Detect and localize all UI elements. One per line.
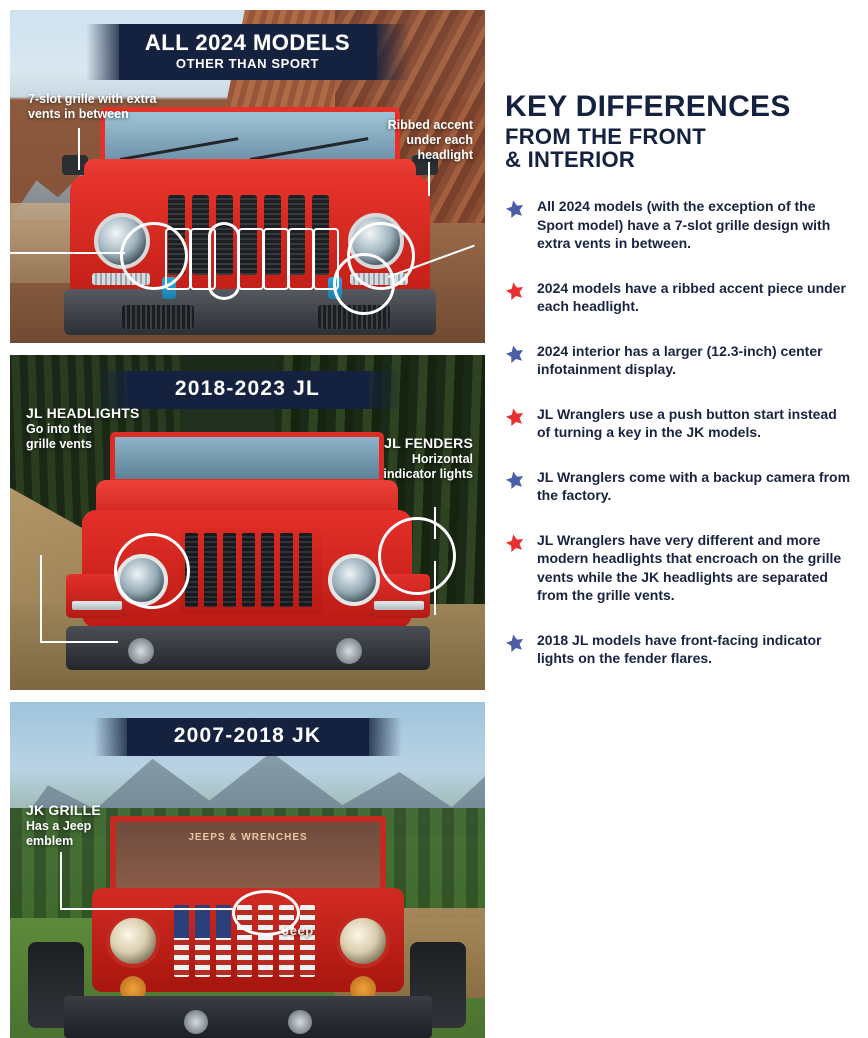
front-bumper bbox=[66, 626, 430, 670]
list-item-text: 2018 JL models have front-facing indicat… bbox=[537, 631, 852, 668]
leader-line-jk-horizontal bbox=[60, 908, 234, 910]
callout-circle-jl-fender bbox=[378, 517, 456, 595]
grille-slot bbox=[174, 905, 189, 977]
banner-subtitle: OTHER THAN SPORT bbox=[133, 56, 363, 71]
grille-slot bbox=[216, 905, 231, 977]
grille-slot bbox=[280, 533, 293, 607]
grille-slot bbox=[195, 905, 210, 977]
label-jl-fenders: JL FENDERS Horizontal indicator lights bbox=[313, 435, 473, 482]
banner-era: 2007-2018 JK bbox=[141, 724, 355, 748]
leader-line-left bbox=[78, 128, 80, 170]
list-item-text: JL Wranglers use a push button start ins… bbox=[537, 405, 852, 442]
leader-line-jl-right-vertical bbox=[434, 507, 436, 539]
blue-star-icon bbox=[505, 470, 527, 490]
fog-light-left bbox=[128, 638, 154, 664]
list-item-text: All 2024 models (with the exception of t… bbox=[537, 197, 852, 252]
callout-vent-4 bbox=[263, 228, 289, 290]
headlight-right bbox=[336, 914, 390, 968]
grille-slot bbox=[223, 533, 236, 607]
leader-line-jl-right-lower bbox=[434, 561, 436, 615]
blue-star-icon bbox=[505, 199, 527, 219]
banner-title: ALL 2024 MODELS bbox=[133, 31, 363, 54]
callout-circle-ribbed-accent bbox=[333, 253, 395, 315]
label-jl-headlights-heading: JL HEADLIGHTS bbox=[26, 405, 186, 422]
list-item-text: JL Wranglers come with a backup camera f… bbox=[537, 468, 852, 505]
photo-jl-2018-2023: 2018-2023 JL JL HEADLIGHTS Go into the g… bbox=[10, 355, 485, 690]
callout-vent-6 bbox=[313, 228, 339, 290]
list-item: 2024 interior has a larger (12.3-inch) c… bbox=[505, 342, 852, 379]
label-ribbed-accent: Ribbed accent under each headlight bbox=[323, 118, 473, 163]
callout-vent-5 bbox=[288, 228, 314, 290]
red-star-icon bbox=[505, 533, 527, 553]
title-line-3: & INTERIOR bbox=[505, 149, 852, 171]
list-item: JL Wranglers use a push button start ins… bbox=[505, 405, 852, 442]
list-item: JL Wranglers come with a backup camera f… bbox=[505, 468, 852, 505]
photo-column: ALL 2024 MODELS OTHER THAN SPORT 7-slot … bbox=[0, 0, 485, 1036]
list-item: JL Wranglers have very different and mor… bbox=[505, 531, 852, 605]
label-jl-headlights: JL HEADLIGHTS Go into the grille vents bbox=[26, 405, 186, 452]
banner-jl: 2018-2023 JL bbox=[127, 371, 369, 409]
grille-slot bbox=[242, 533, 255, 607]
callout-extra-vent-oval bbox=[208, 222, 240, 300]
red-star-icon bbox=[505, 407, 527, 427]
leader-line-jl-left-vertical bbox=[40, 555, 42, 643]
label-jl-fenders-heading: JL FENDERS bbox=[313, 435, 473, 452]
jeep-jk-front: JEEPS & WRENCHES Jeep bbox=[58, 742, 438, 1038]
list-item: 2018 JL models have front-facing indicat… bbox=[505, 631, 852, 668]
red-star-icon bbox=[505, 281, 527, 301]
title-line-2: FROM THE FRONT bbox=[505, 126, 852, 148]
headlight-right bbox=[328, 554, 380, 606]
banner-era: 2018-2023 JL bbox=[141, 377, 355, 401]
label-jk-grille: JK GRILLE Has a Jeep emblem bbox=[26, 802, 176, 849]
grille-slot bbox=[204, 533, 217, 607]
list-item: 2024 models have a ribbed accent piece u… bbox=[505, 279, 852, 316]
banner-jk: 2007-2018 JK bbox=[127, 718, 369, 756]
front-bumper bbox=[64, 996, 432, 1038]
text-column: KEY DIFFERENCES FROM THE FRONT & INTERIO… bbox=[485, 0, 868, 1036]
blue-star-icon bbox=[505, 633, 527, 653]
leader-line-left-horizontal bbox=[10, 252, 125, 254]
callout-circle-jl-headlight bbox=[114, 533, 190, 609]
indicator-light-right bbox=[374, 601, 424, 610]
label-jk-grille-heading: JK GRILLE bbox=[26, 802, 176, 819]
list-item-text: 2024 models have a ribbed accent piece u… bbox=[537, 279, 852, 316]
grille-slot bbox=[261, 533, 274, 607]
label-jl-headlights-body: Go into the grille vents bbox=[26, 422, 186, 452]
callout-vent-3 bbox=[238, 228, 264, 290]
list-item-text: JL Wranglers have very different and mor… bbox=[537, 531, 852, 605]
banner-2024: ALL 2024 MODELS OTHER THAN SPORT bbox=[119, 24, 377, 80]
leader-line-right bbox=[428, 162, 430, 196]
label-jk-grille-body: Has a Jeep emblem bbox=[26, 819, 176, 849]
list-item-text: 2024 interior has a larger (12.3-inch) c… bbox=[537, 342, 852, 379]
label-jl-fenders-body: Horizontal indicator lights bbox=[313, 452, 473, 482]
grille-slot bbox=[300, 905, 315, 977]
key-differences-list: All 2024 models (with the exception of t… bbox=[505, 197, 852, 667]
fog-light-left bbox=[184, 1010, 208, 1034]
bumper-mesh-left bbox=[122, 305, 194, 329]
callout-vent-1 bbox=[165, 228, 191, 290]
list-item: All 2024 models (with the exception of t… bbox=[505, 197, 852, 252]
title-line-1: KEY DIFFERENCES bbox=[505, 92, 852, 123]
grille-slot bbox=[299, 533, 312, 607]
callout-circle-jeep-emblem bbox=[232, 890, 300, 936]
infographic-page: ALL 2024 MODELS OTHER THAN SPORT 7-slot … bbox=[0, 0, 868, 1036]
leader-line-jk-vertical bbox=[60, 852, 62, 908]
leader-line-jl-left-horizontal bbox=[40, 641, 118, 643]
fog-light-right bbox=[288, 1010, 312, 1034]
blue-star-icon bbox=[505, 344, 527, 364]
fog-light-right bbox=[336, 638, 362, 664]
label-7slot-grille: 7-slot grille with extra vents in betwee… bbox=[28, 92, 208, 122]
photo-2024-models: ALL 2024 MODELS OTHER THAN SPORT 7-slot … bbox=[10, 10, 485, 343]
headlight-left bbox=[106, 914, 160, 968]
page-title: KEY DIFFERENCES FROM THE FRONT & INTERIO… bbox=[505, 92, 852, 171]
seven-slot-grille bbox=[180, 528, 322, 614]
photo-jk-2007-2018: JEEPS & WRENCHES Jeep bbox=[10, 702, 485, 1038]
indicator-light-left bbox=[72, 601, 122, 610]
